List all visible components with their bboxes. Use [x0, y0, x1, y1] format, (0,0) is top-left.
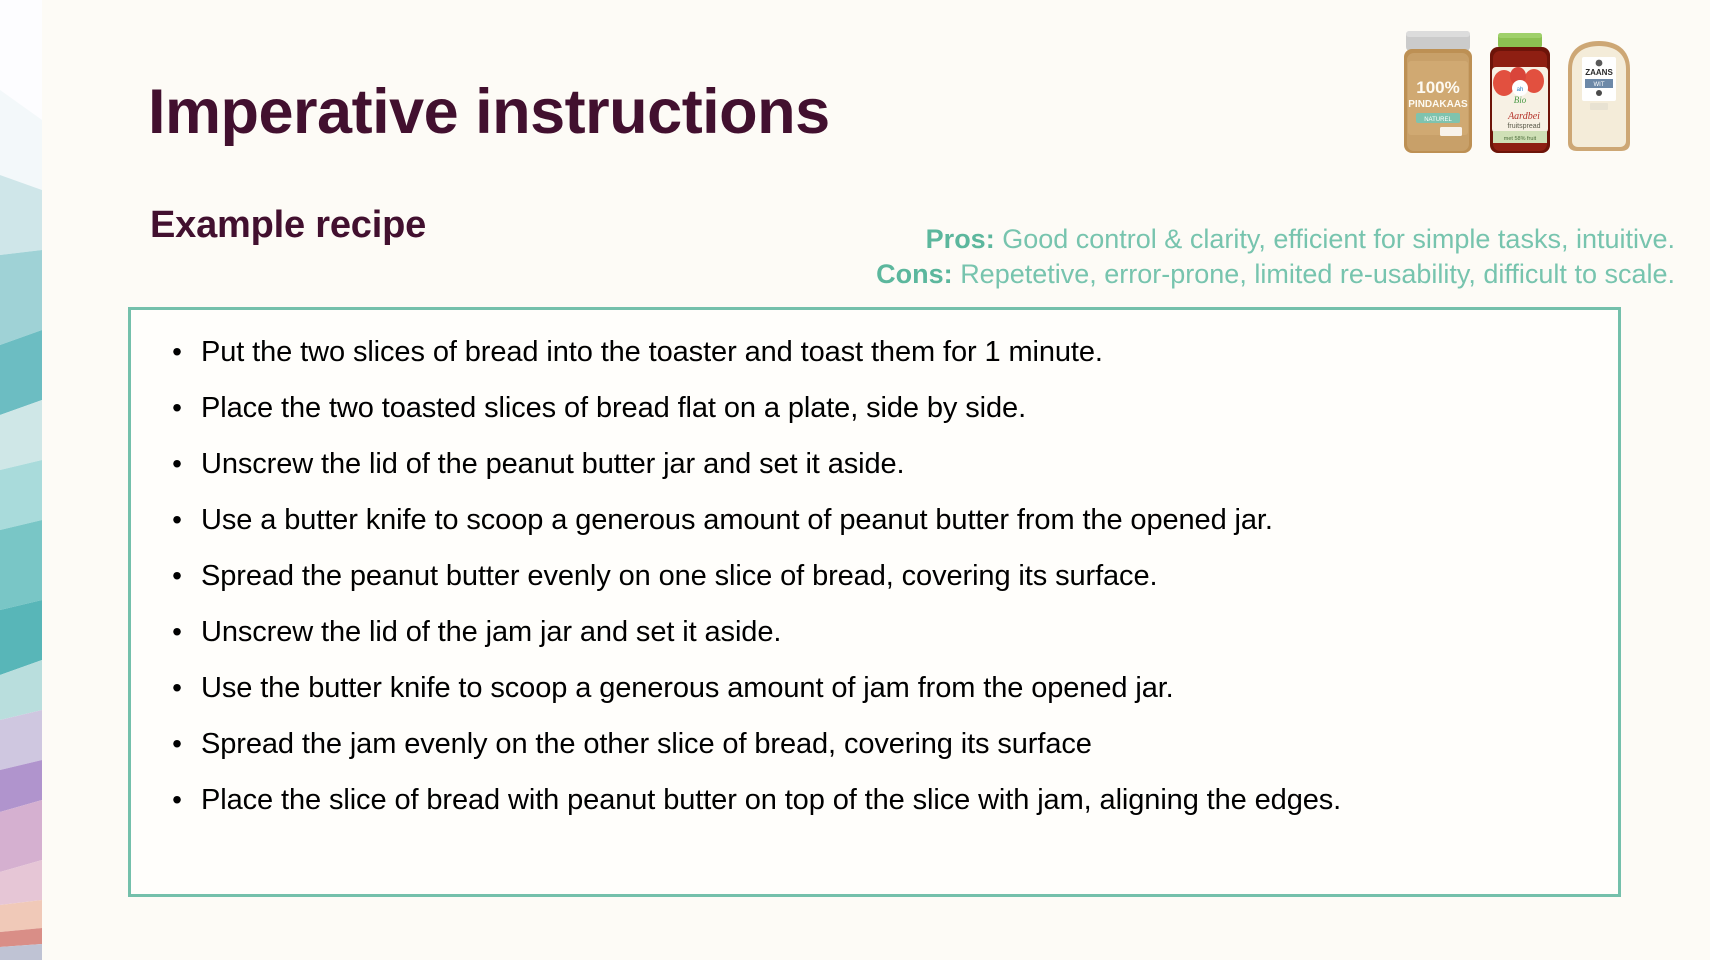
- list-item-label: Use a butter knife to scoop a generous a…: [201, 504, 1273, 537]
- jam-bio-label: Bio: [1514, 95, 1527, 105]
- recipe-step-list: • Put the two slices of bread into the t…: [131, 310, 1618, 840]
- list-item: • Unscrew the lid of the peanut butter j…: [131, 448, 1618, 504]
- list-item-label: Spread the jam evenly on the other slice…: [201, 728, 1092, 761]
- list-item: • Spread the jam evenly on the other sli…: [131, 728, 1618, 784]
- cons-text: Repetetive, error-prone, limited re-usab…: [960, 259, 1675, 289]
- list-item-label: Put the two slices of bread into the toa…: [201, 336, 1103, 369]
- slide: 100% PINDAKAAS NATUREL ah Bio Aardbe: [0, 0, 1710, 960]
- list-item: • Unscrew the lid of the jam jar and set…: [131, 616, 1618, 672]
- list-item-label: Use the butter knife to scoop a generous…: [201, 672, 1174, 705]
- list-item-label: Place the slice of bread with peanut but…: [201, 784, 1341, 817]
- bullet-icon: •: [153, 562, 201, 590]
- pros-line: Pros: Good control & clarity, efficient …: [876, 222, 1675, 257]
- section-subtitle: Example recipe: [150, 204, 426, 247]
- list-item: • Use the butter knife to scoop a genero…: [131, 672, 1618, 728]
- list-item-label: Place the two toasted slices of bread fl…: [201, 392, 1026, 425]
- cons-line: Cons: Repetetive, error-prone, limited r…: [876, 257, 1675, 292]
- list-item: • Place the slice of bread with peanut b…: [131, 784, 1618, 840]
- jam-label-main: Aardbei: [1507, 111, 1540, 122]
- decorative-edge-strip: [0, 0, 42, 960]
- jam-brand-label: ah: [1517, 87, 1524, 93]
- list-item-label: Spread the peanut butter evenly on one s…: [201, 560, 1157, 593]
- peanut-butter-jar-image: 100% PINDAKAAS NATUREL: [1396, 27, 1480, 160]
- bread-label-main: ZAANS: [1585, 68, 1613, 77]
- bread-label-sub: WIT: [1594, 82, 1605, 88]
- list-item-label: Unscrew the lid of the peanut butter jar…: [201, 448, 905, 481]
- product-images: 100% PINDAKAAS NATUREL ah Bio Aardbe: [1396, 28, 1668, 160]
- bullet-icon: •: [153, 730, 201, 758]
- cons-label: Cons:: [876, 259, 953, 289]
- bread-slice-image: ZAANS WIT: [1560, 35, 1638, 160]
- list-item-label: Unscrew the lid of the jam jar and set i…: [201, 616, 781, 649]
- bullet-icon: •: [153, 394, 201, 422]
- jam-label-note: met 58% fruit: [1504, 136, 1537, 142]
- pb-label-tag: NATUREL: [1424, 117, 1452, 123]
- bullet-icon: •: [153, 506, 201, 534]
- bullet-icon: •: [153, 338, 201, 366]
- list-item: • Use a butter knife to scoop a generous…: [131, 504, 1618, 560]
- list-item: • Put the two slices of bread into the t…: [131, 336, 1618, 392]
- pros-text: Good control & clarity, efficient for si…: [1002, 224, 1675, 254]
- bullet-icon: •: [153, 786, 201, 814]
- bullet-icon: •: [153, 674, 201, 702]
- list-item: • Spread the peanut butter evenly on one…: [131, 560, 1618, 616]
- jam-jar-image: ah Bio Aardbei fruitspread met 58% fruit: [1484, 31, 1556, 160]
- jam-label-sub: fruitspread: [1507, 123, 1540, 130]
- pb-label-main: 100%: [1416, 78, 1459, 97]
- pros-cons-block: Pros: Good control & clarity, efficient …: [876, 222, 1675, 292]
- bullet-icon: •: [153, 618, 201, 646]
- recipe-box: • Put the two slices of bread into the t…: [128, 307, 1621, 897]
- list-item: • Place the two toasted slices of bread …: [131, 392, 1618, 448]
- pb-label-sub: PINDAKAAS: [1408, 99, 1468, 110]
- bullet-icon: •: [153, 450, 201, 478]
- page-title: Imperative instructions: [148, 76, 830, 148]
- pros-label: Pros:: [926, 224, 995, 254]
